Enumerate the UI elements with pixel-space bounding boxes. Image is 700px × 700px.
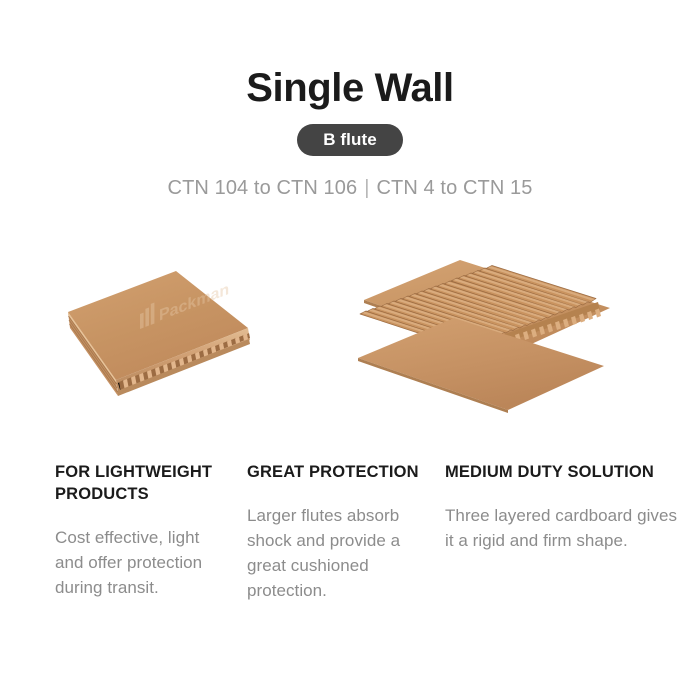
feature-body: Three layered cardboard gives it a rigid… xyxy=(445,484,682,553)
logo-bar-1 xyxy=(140,313,144,329)
header: Single Wall B flute CTN 104 to CTN 106|C… xyxy=(0,0,700,200)
product-code-range-right: CTN 4 to CTN 15 xyxy=(376,177,532,199)
feature-column-medium-duty: MEDIUM DUTY SOLUTION Three layered cardb… xyxy=(445,462,700,603)
flute-type-badge: B flute xyxy=(297,124,403,156)
product-code-range: CTN 104 to CTN 106|CTN 4 to CTN 15 xyxy=(0,177,700,200)
feature-column-lightweight: FOR LIGHTWEIGHT PRODUCTS Cost effective,… xyxy=(0,462,247,603)
page-title: Single Wall xyxy=(0,0,700,110)
feature-columns: FOR LIGHTWEIGHT PRODUCTS Cost effective,… xyxy=(0,462,700,603)
feature-heading: FOR LIGHTWEIGHT PRODUCTS xyxy=(55,462,229,506)
feature-heading: GREAT PROTECTION xyxy=(247,462,427,484)
illustration-band: Packman xyxy=(0,252,700,440)
feature-body: Cost effective, light and offer protecti… xyxy=(55,506,229,600)
badge-container: B flute xyxy=(0,124,700,158)
exploded-layers-illustration xyxy=(352,252,622,440)
product-spec-card: Single Wall B flute CTN 104 to CTN 106|C… xyxy=(0,0,700,700)
feature-heading: MEDIUM DUTY SOLUTION xyxy=(445,462,682,484)
product-code-range-left: CTN 104 to CTN 106 xyxy=(168,177,358,199)
feature-column-protection: GREAT PROTECTION Larger flutes absorb sh… xyxy=(247,462,445,603)
feature-body: Larger flutes absorb shock and provide a… xyxy=(247,484,427,604)
logo-bar-2 xyxy=(145,308,149,327)
logo-bar-3 xyxy=(151,302,155,324)
single-wall-board-illustration: Packman xyxy=(58,252,308,440)
product-code-separator: | xyxy=(357,177,376,200)
